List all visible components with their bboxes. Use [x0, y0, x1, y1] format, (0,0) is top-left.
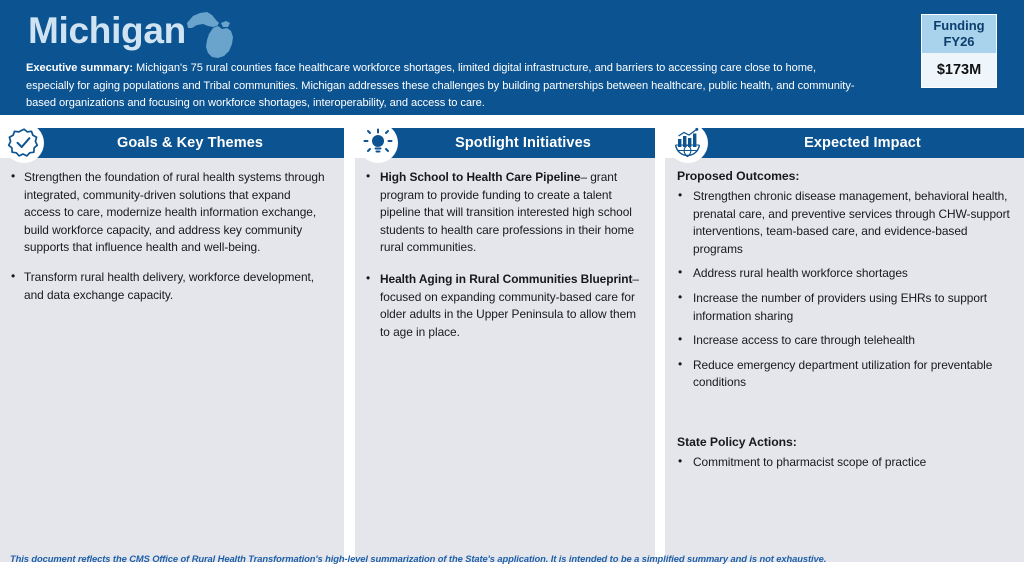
- page-header: Michigan Executive summary: Michigan's 7…: [0, 0, 1024, 115]
- footer-disclaimer: This document reflects the CMS Office of…: [10, 553, 1010, 564]
- funding-box: Funding FY26 $173M: [921, 14, 997, 88]
- bullet-text: Strengthen chronic disease management, b…: [693, 189, 1010, 256]
- funding-label: Funding FY26: [922, 15, 996, 53]
- globe-bar-chart-icon: [668, 123, 708, 163]
- list-item: Strengthen chronic disease management, b…: [675, 188, 1014, 258]
- column-spotlight-initiatives: Spotlight Initiatives High School to Hea…: [355, 128, 655, 562]
- michigan-state-silhouette-icon: [183, 9, 243, 61]
- section-spacer: [675, 399, 1014, 435]
- column-header-impact: Expected Impact: [693, 128, 1024, 158]
- lightbulb-icon: [358, 123, 398, 163]
- column-goals-key-themes: Goals & Key Themes Strengthen the founda…: [0, 128, 344, 562]
- bullet-text: Address rural health workforce shortages: [693, 266, 908, 280]
- list-item: Health Aging in Rural Communities Bluepr…: [363, 271, 647, 341]
- list-item: Increase access to care through teleheal…: [675, 332, 1014, 350]
- column-title-impact: Expected Impact: [796, 135, 921, 151]
- bullet-text: Reduce emergency department utilization …: [693, 358, 992, 390]
- bullet-text: Commitment to pharmacist scope of practi…: [693, 455, 926, 469]
- list-item: Address rural health workforce shortages: [675, 265, 1014, 283]
- list-item: Strengthen the foundation of rural healt…: [8, 169, 330, 257]
- proposed-outcomes-list: Strengthen chronic disease management, b…: [675, 188, 1014, 392]
- list-item: Transform rural health delivery, workfor…: [8, 269, 330, 304]
- bullet-text: Transform rural health delivery, workfor…: [24, 270, 314, 302]
- spotlight-bullet-list: High School to Health Care Pipeline– gra…: [363, 169, 647, 341]
- list-item: Increase the number of providers using E…: [675, 290, 1014, 325]
- panel-expected-impact: Proposed Outcomes: Strengthen chronic di…: [665, 158, 1024, 562]
- section-heading-proposed-outcomes: Proposed Outcomes:: [677, 169, 1014, 183]
- state-policy-actions-list: Commitment to pharmacist scope of practi…: [675, 454, 1014, 472]
- funding-amount: $173M: [922, 53, 996, 87]
- panel-spotlight-initiatives: High School to Health Care Pipeline– gra…: [355, 158, 655, 562]
- bullet-lead: High School to Health Care Pipeline: [380, 170, 580, 184]
- column-header-goals: Goals & Key Themes: [28, 128, 344, 158]
- executive-summary-text: Michigan's 75 rural counties face health…: [26, 62, 854, 109]
- column-header-spotlight: Spotlight Initiatives: [383, 128, 655, 158]
- column-title-spotlight: Spotlight Initiatives: [447, 135, 591, 151]
- bullet-text: Increase the number of providers using E…: [693, 291, 987, 323]
- column-expected-impact: Expected Impact Proposed Outcomes: Stren…: [665, 128, 1024, 562]
- executive-summary-label: Executive summary:: [26, 62, 133, 74]
- list-item: High School to Health Care Pipeline– gra…: [363, 169, 647, 257]
- panel-goals-key-themes: Strengthen the foundation of rural healt…: [0, 158, 344, 562]
- funding-label-line1: Funding: [933, 18, 984, 34]
- badge-check-icon: [4, 123, 44, 163]
- list-item: Reduce emergency department utilization …: [675, 357, 1014, 392]
- list-item: Commitment to pharmacist scope of practi…: [675, 454, 1014, 472]
- bullet-text: Increase access to care through teleheal…: [693, 333, 915, 347]
- executive-summary: Executive summary: Michigan's 75 rural c…: [26, 60, 864, 113]
- page-title: Michigan: [28, 8, 186, 54]
- goals-bullet-list: Strengthen the foundation of rural healt…: [8, 169, 330, 304]
- section-heading-state-policy-actions: State Policy Actions:: [677, 435, 1014, 449]
- bullet-lead: Health Aging in Rural Communities Bluepr…: [380, 272, 632, 286]
- bullet-text: Strengthen the foundation of rural healt…: [24, 170, 325, 254]
- column-title-goals: Goals & Key Themes: [109, 135, 263, 151]
- funding-label-line2: FY26: [943, 34, 974, 50]
